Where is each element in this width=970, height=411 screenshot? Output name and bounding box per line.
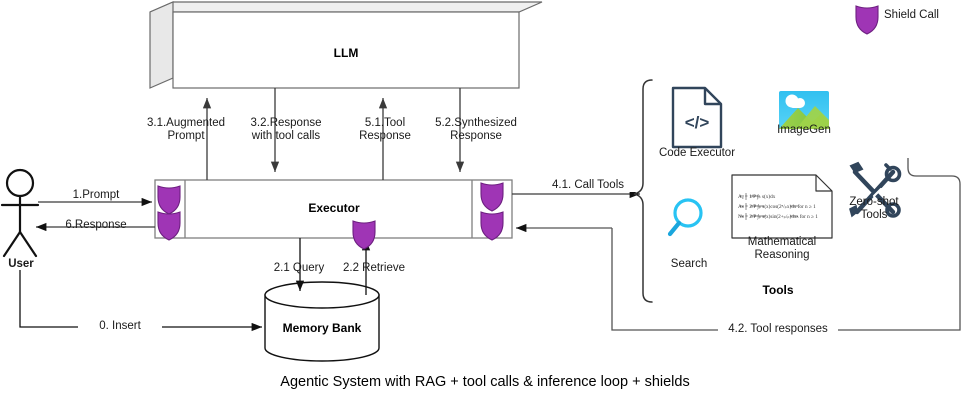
edge-label-retrieve: 2.2 Retrieve bbox=[330, 262, 418, 275]
legend-label: Shield Call bbox=[884, 9, 964, 22]
svg-text:</>: </> bbox=[685, 113, 710, 132]
executor-label: Executor bbox=[264, 201, 404, 215]
svg-text:Nₙ = 2/P ∫ₚ s(x)sin(2+ₚ/ₚ)dxₙ: Nₙ = 2/P ∫ₚ s(x)sin(2+ₚ/ₚ)dxₙ for n ≥ 1 bbox=[738, 213, 818, 220]
tools-left-brace bbox=[634, 80, 652, 302]
tool-label-math-reasoning: Mathematical Reasoning bbox=[727, 236, 837, 262]
tool-label-imagegen: ImageGen bbox=[766, 124, 842, 137]
edge-label-call-tools: 4.1. Call Tools bbox=[540, 179, 636, 192]
user-label: User bbox=[0, 258, 42, 271]
edge-label-response-tool-calls: 3.2.Response with tool calls bbox=[236, 117, 336, 143]
math-document-icon: A₀ = 1/P ∫ₚ s(x)dx Aₙ = 2/P ∫ₚ s(x)cos(2… bbox=[732, 175, 832, 238]
tool-label-zero-shot-tools: Zero-shot Tools bbox=[836, 196, 912, 222]
shield-icon-legend bbox=[856, 6, 878, 34]
edge-label-response: 6.Response bbox=[44, 219, 148, 232]
shield-icon bbox=[353, 221, 375, 249]
tool-label-code-executor: Code Executor bbox=[645, 147, 749, 160]
edge-label-insert: 0. Insert bbox=[78, 320, 162, 333]
edge-label-prompt: 1.Prompt bbox=[48, 189, 144, 202]
user-stick-figure bbox=[2, 170, 38, 256]
edge-label-query: 2.1 Query bbox=[259, 262, 339, 275]
memory-bank-label: Memory Bank bbox=[252, 321, 392, 335]
insert-path bbox=[20, 270, 262, 327]
search-magnifier-icon bbox=[670, 200, 701, 234]
edge-label-tool-response: 5.1.Tool Response bbox=[344, 117, 426, 143]
tool-label-search: Search bbox=[655, 258, 723, 271]
edge-label-augmented-prompt: 3.1.Augmented Prompt bbox=[139, 117, 233, 143]
edge-label-tool-responses: 4.2. Tool responses bbox=[718, 323, 838, 336]
llm-label: LLM bbox=[276, 46, 416, 60]
svg-text:A₀ = 1/P ∫ₚ s(x)dx: A₀ = 1/P ∫ₚ s(x)dx bbox=[738, 193, 776, 200]
code-document-icon: </> bbox=[673, 88, 721, 147]
svg-text:Aₙ = 2/P ∫ₚ s(x)cos(2ⁿ/ₚx)dx: Aₙ = 2/P ∫ₚ s(x)cos(2ⁿ/ₚx)dx for n ≥ 1 bbox=[738, 203, 816, 210]
llm-box bbox=[150, 2, 542, 88]
edge-label-synthesized-response: 5.2.Synthesized Response bbox=[424, 117, 528, 143]
tools-group-label: Tools bbox=[718, 283, 838, 297]
figure-caption: Agentic System with RAG + tool calls & i… bbox=[0, 374, 970, 390]
diagram-canvas: </> A₀ = 1/P ∫ₚ s(x)dx Aₙ = 2/P ∫ₚ s(x)c… bbox=[0, 0, 970, 411]
